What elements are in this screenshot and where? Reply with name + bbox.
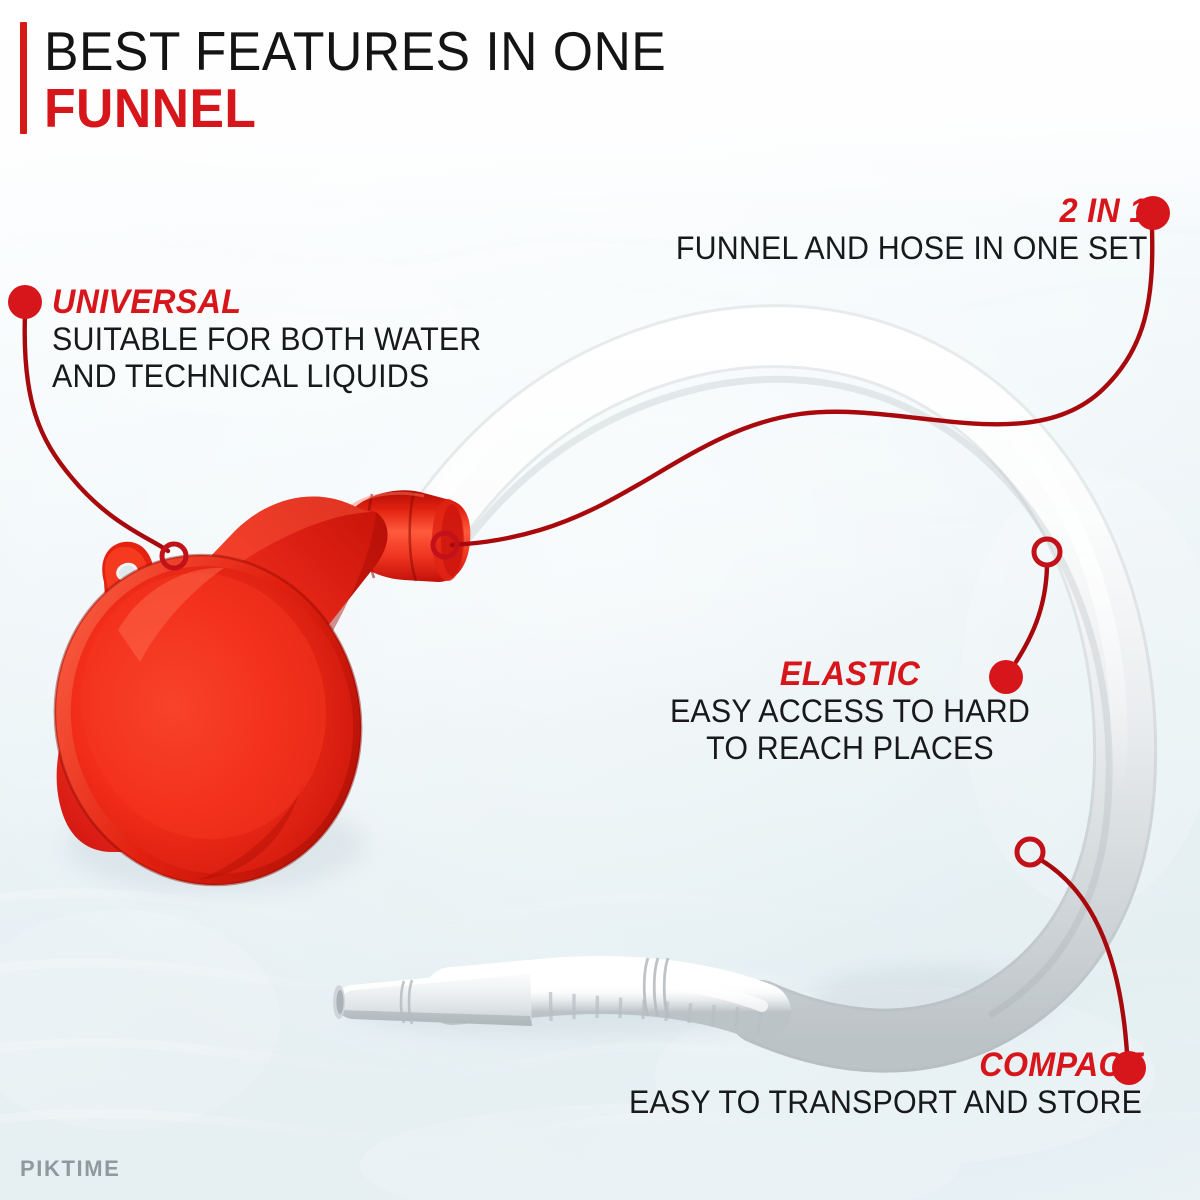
anchor-ring-compact [1017, 839, 1043, 865]
anchor-ring-elastic [1034, 539, 1060, 565]
callout-connectors [0, 0, 1200, 1200]
callout-elastic-heading: ELASTIC [670, 655, 1030, 693]
callout-elastic: ELASTIC EASY ACCESS TO HARD TO REACH PLA… [651, 655, 1030, 767]
callout-elastic-body-line-2: TO REACH PLACES [670, 730, 1030, 767]
page-title: BEST FEATURES IN ONE FUNNEL [20, 22, 706, 137]
title-line-2: FUNNEL [44, 80, 666, 137]
callout-universal-heading: UNIVERSAL [52, 283, 481, 321]
watermark-piktime: PIKTIME [20, 1156, 120, 1182]
infographic-canvas: BEST FEATURES IN ONE FUNNEL UNIVERSAL SU… [0, 0, 1200, 1200]
callout-universal: UNIVERSAL SUITABLE FOR BOTH WATER AND TE… [52, 283, 504, 395]
marker-dot-universal [8, 285, 42, 319]
callout-two-in-one-heading: 2 IN 1 [676, 192, 1148, 230]
callout-two-in-one-body-line-1: FUNNEL AND HOSE IN ONE SET [676, 230, 1148, 267]
callout-two-in-one: 2 IN 1 FUNNEL AND HOSE IN ONE SET [651, 192, 1148, 267]
connector-two-in-one [452, 228, 1152, 545]
anchor-ring-universal [162, 544, 186, 568]
callout-compact-heading: COMPACT [629, 1046, 1142, 1084]
callout-elastic-body-line-1: EASY ACCESS TO HARD [670, 693, 1030, 730]
callout-universal-body-line-1: SUITABLE FOR BOTH WATER [52, 321, 481, 358]
callout-compact-body-line-1: EASY TO TRANSPORT AND STORE [629, 1084, 1142, 1121]
callout-compact: COMPACT EASY TO TRANSPORT AND STORE [602, 1046, 1142, 1121]
callout-universal-body-line-2: AND TECHNICAL LIQUIDS [52, 358, 481, 395]
connector-compact [1041, 860, 1127, 1053]
title-line-1: BEST FEATURES IN ONE [44, 22, 666, 80]
title-accent-bar [20, 22, 27, 134]
connector-elastic [1016, 566, 1047, 662]
